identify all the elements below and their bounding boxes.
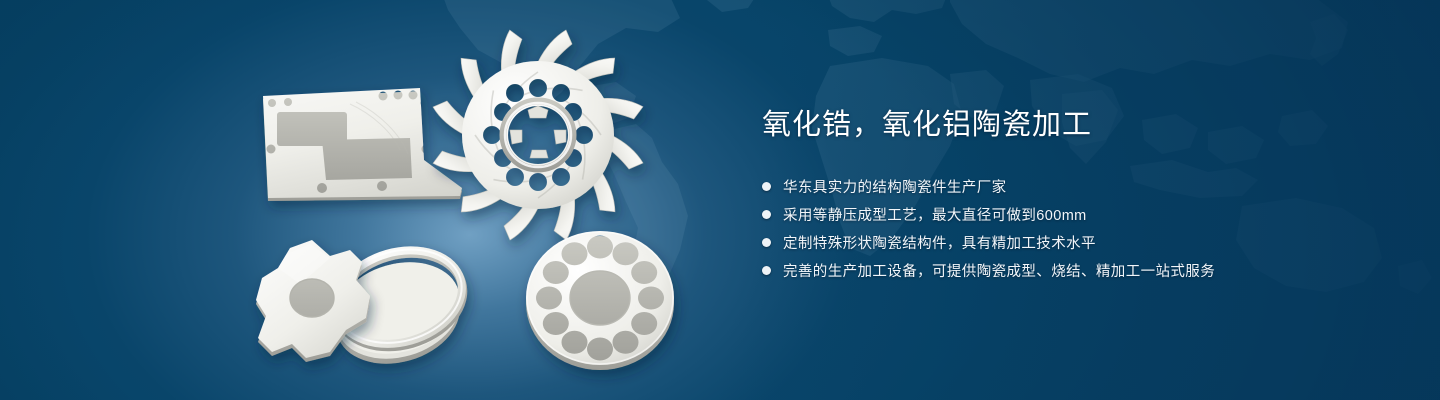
list-item: 定制特殊形状陶瓷结构件，具有精加工技术水平 [762, 232, 1382, 254]
product-hero-banner: 氧化锆，氧化铝陶瓷加工 华东具实力的结构陶瓷件生产厂家 采用等静压成型工艺，最大… [0, 0, 1440, 400]
ceramic-mounting-plate [0, 80, 500, 210]
feature-text: 定制特殊形状陶瓷结构件，具有精加工技术水平 [783, 232, 1096, 253]
page-title: 氧化锆，氧化铝陶瓷加工 [762, 108, 1382, 143]
bullet-dot-icon [762, 238, 771, 247]
list-item: 采用等静压成型工艺，最大直径可做到600mm [762, 204, 1382, 226]
ceramic-impeller-disc [430, 27, 646, 243]
feature-list: 华东具实力的结构陶瓷件生产厂家 采用等静压成型工艺，最大直径可做到600mm 定… [762, 176, 1382, 282]
feature-text: 华东具实力的结构陶瓷件生产厂家 [783, 176, 1007, 197]
list-item: 完善的生产加工设备，可提供陶瓷成型、烧结、精加工一站式服务 [762, 260, 1382, 282]
bullet-dot-icon [762, 266, 771, 275]
bullet-dot-icon [762, 182, 771, 191]
feature-text: 完善的生产加工设备，可提供陶瓷成型、烧结、精加工一站式服务 [783, 260, 1215, 281]
list-item: 华东具实力的结构陶瓷件生产厂家 [762, 176, 1382, 198]
banner-copy: 氧化锆，氧化铝陶瓷加工 华东具实力的结构陶瓷件生产厂家 采用等静压成型工艺，最大… [762, 108, 1382, 288]
bullet-dot-icon [762, 210, 771, 219]
feature-text: 采用等静压成型工艺，最大直径可做到600mm [783, 204, 1087, 225]
ceramic-cross-plate [240, 230, 390, 370]
product-photo-group [0, 0, 760, 400]
ceramic-perforated-disc [520, 225, 685, 375]
